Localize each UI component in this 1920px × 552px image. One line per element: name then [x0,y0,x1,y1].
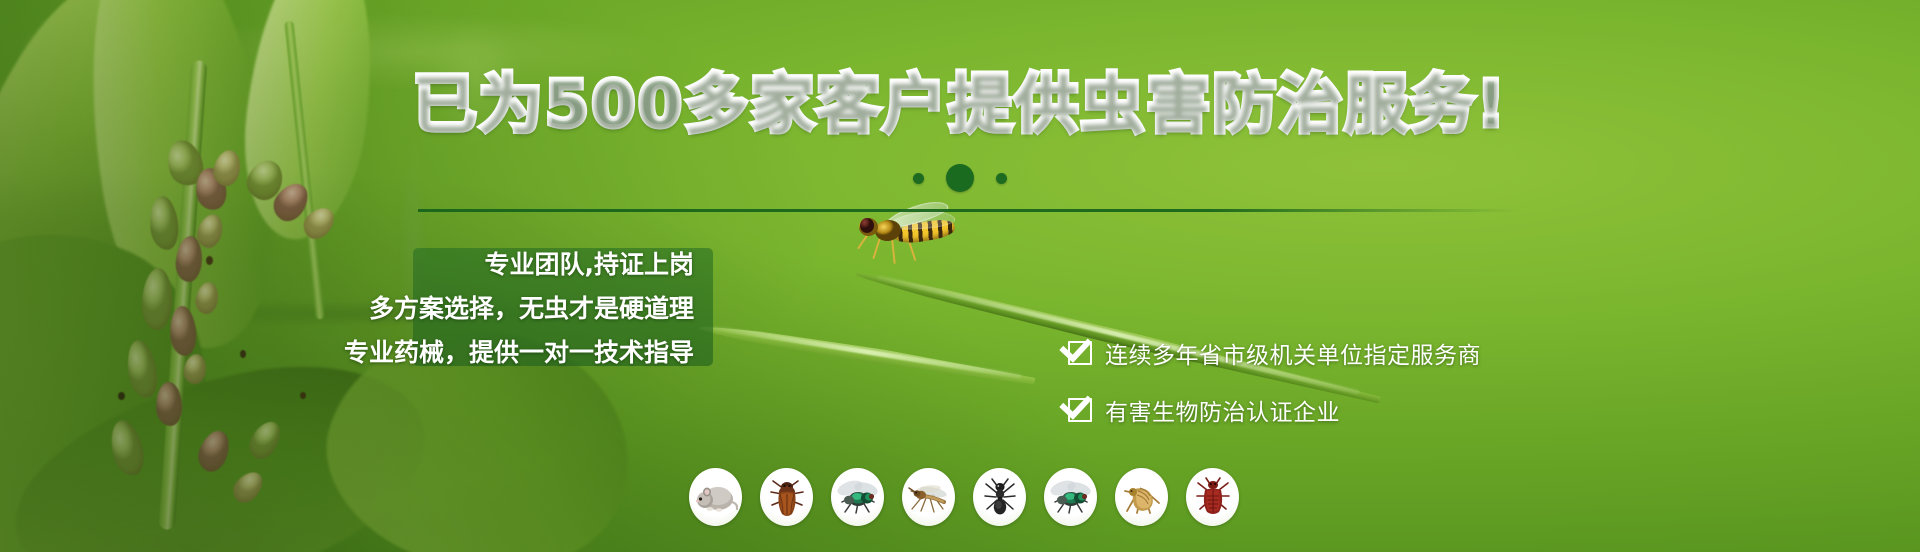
dot-small-icon [913,173,924,184]
feature-item: 连续多年省市级机关单位指定服务商 [1068,336,1481,370]
pest-icon-flea[interactable] [1115,468,1168,526]
dot-large-icon [946,164,974,192]
checkbox-checked-icon [1068,398,1092,422]
pest-icon-mouse[interactable] [689,468,742,526]
mosquito-icon [907,479,951,515]
pest-icon-fly[interactable] [831,468,884,526]
dot-small-icon [996,173,1007,184]
housefly-icon [836,478,880,516]
decorative-dots [0,164,1920,192]
pest-icon-bedbug[interactable] [1186,468,1239,526]
pest-icon-strip [689,468,1239,526]
slogan-line-3: 专业药械，提供一对一技术指导 [340,340,694,365]
flea-icon [1121,477,1163,517]
pest-icon-ant[interactable] [973,468,1026,526]
pest-icon-mosquito[interactable] [902,468,955,526]
slogan-line-1: 专业团队,持证上岗 [340,252,694,277]
rodent-icon [694,480,738,514]
banner-headline-text: 已为500多家客户提供虫害防治服务! [413,68,1508,142]
slogan-panel-text: 专业团队,持证上岗 多方案选择，无虫才是硬道理 专业药械，提供一对一技术指导 [340,252,720,365]
feature-list: 连续多年省市级机关单位指定服务商 有害生物防治认证企业 [1068,336,1481,427]
banner-headline: 已为500多家客户提供虫害防治服务! [0,73,1920,137]
pest-icon-blowfly[interactable] [1044,468,1097,526]
bedbug-icon [1194,476,1232,518]
feature-label: 有害生物防治认证企业 [1105,393,1340,427]
feature-item: 有害生物防治认证企业 [1068,393,1481,427]
pest-icon-cockroach[interactable] [760,468,813,526]
fly-eye [860,218,874,233]
blowfly-icon [1049,478,1093,516]
slogan-line-2: 多方案选择，无虫才是硬道理 [340,296,694,321]
cockroach-icon [767,476,807,518]
ant-icon [981,476,1019,518]
checkbox-checked-icon [1068,341,1092,365]
feature-label: 连续多年省市级机关单位指定服务商 [1105,336,1481,370]
horizontal-rule [418,209,1518,212]
fly-leg [872,238,881,260]
pest-control-hero-banner: 已为500多家客户提供虫害防治服务! 专业团队,持证上岗 多方案选择，无虫才是硬… [0,0,1920,552]
